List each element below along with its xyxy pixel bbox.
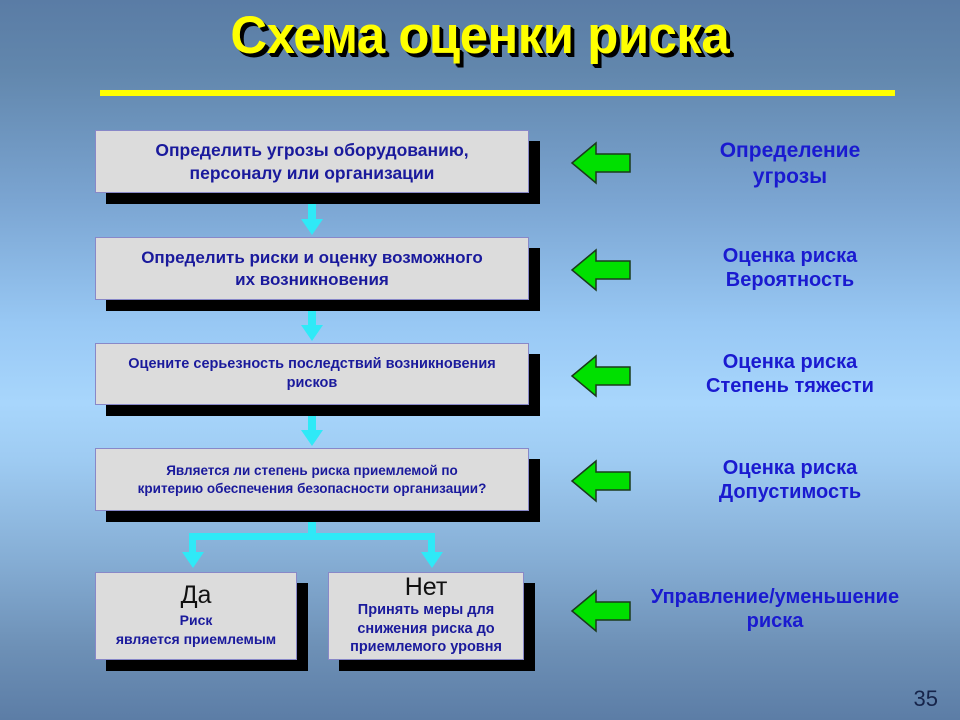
outcome-no-line-1: Принять меры для: [337, 601, 515, 620]
flow-step-2-line-1: Определить риски и оценку возможного: [104, 247, 520, 269]
stage-label-5-line-2: риска: [600, 609, 950, 633]
title-container: Схема оценки риска: [0, 8, 960, 64]
branch-connector-bar: [189, 533, 435, 540]
flow-step-1-line-2: персоналу или организации: [104, 162, 520, 184]
flow-step-1-box: Определить угрозы оборудованию, персонал…: [95, 130, 529, 193]
outcome-no-heading: Нет: [405, 575, 448, 600]
connector-2-arrowhead-icon: [301, 325, 323, 341]
green-left-arrow-icon-3: [570, 353, 632, 399]
flow-step-4-decision-box: Является ли степень риска приемлемой по …: [95, 448, 529, 511]
slide-canvas: Схема оценки риска Определить угрозы обо…: [0, 0, 960, 720]
title-divider-rule: [100, 90, 895, 96]
stage-label-4-line-2: Допустимость: [660, 480, 920, 504]
green-left-arrow-icon-4: [570, 458, 632, 504]
outcome-no-line-3: приемлемого уровня: [337, 638, 515, 657]
page-title: Схема оценки риска: [231, 8, 730, 64]
outcome-yes-line-2: является приемлемым: [104, 630, 288, 649]
branch-left-arrowhead-icon: [182, 552, 204, 568]
stage-label-3-line-2: Степень тяжести: [660, 374, 920, 398]
stage-label-1-line-2: угрозы: [660, 164, 920, 190]
stage-label-3-line-1: Оценка риска: [660, 350, 920, 374]
outcome-yes-heading: Да: [181, 583, 212, 608]
green-left-arrow-icon-1: [570, 140, 632, 186]
outcome-yes-line-1: Риск: [104, 611, 288, 630]
flow-step-4-line-1: Является ли степень риска приемлемой по: [104, 462, 520, 480]
connector-3-arrowhead-icon: [301, 430, 323, 446]
slide-number: 35: [914, 686, 938, 712]
stage-label-4: Оценка риска Допустимость: [660, 456, 920, 505]
stage-label-2: Оценка риска Вероятность: [660, 244, 920, 293]
outcome-yes-box: Да Риск является приемлемым: [95, 572, 297, 660]
flow-step-3-line-1: Оцените серьезность последствий возникно…: [104, 355, 520, 374]
stage-label-5: Управление/уменьшение риска: [600, 585, 950, 634]
flow-step-4-line-2: критерию обеспечения безопасности органи…: [104, 480, 520, 498]
stage-label-4-line-1: Оценка риска: [660, 456, 920, 480]
stage-label-2-line-2: Вероятность: [660, 268, 920, 292]
green-left-arrow-icon-2: [570, 247, 632, 293]
flow-step-1-line-1: Определить угрозы оборудованию,: [104, 139, 520, 161]
flow-step-2-line-2: их возникновения: [104, 269, 520, 291]
outcome-no-box: Нет Принять меры для снижения риска до п…: [328, 572, 524, 660]
flow-step-2-box: Определить риски и оценку возможного их …: [95, 237, 529, 300]
connector-1-arrowhead-icon: [301, 219, 323, 235]
stage-label-1: Определение угрозы: [660, 138, 920, 189]
branch-right-arrowhead-icon: [421, 552, 443, 568]
stage-label-2-line-1: Оценка риска: [660, 244, 920, 268]
flow-step-3-line-2: рисков: [104, 374, 520, 393]
stage-label-1-line-1: Определение: [660, 138, 920, 164]
stage-label-3: Оценка риска Степень тяжести: [660, 350, 920, 399]
outcome-no-line-2: снижения риска до: [337, 620, 515, 639]
stage-label-5-line-1: Управление/уменьшение: [600, 585, 950, 609]
flow-step-3-box: Оцените серьезность последствий возникно…: [95, 343, 529, 405]
